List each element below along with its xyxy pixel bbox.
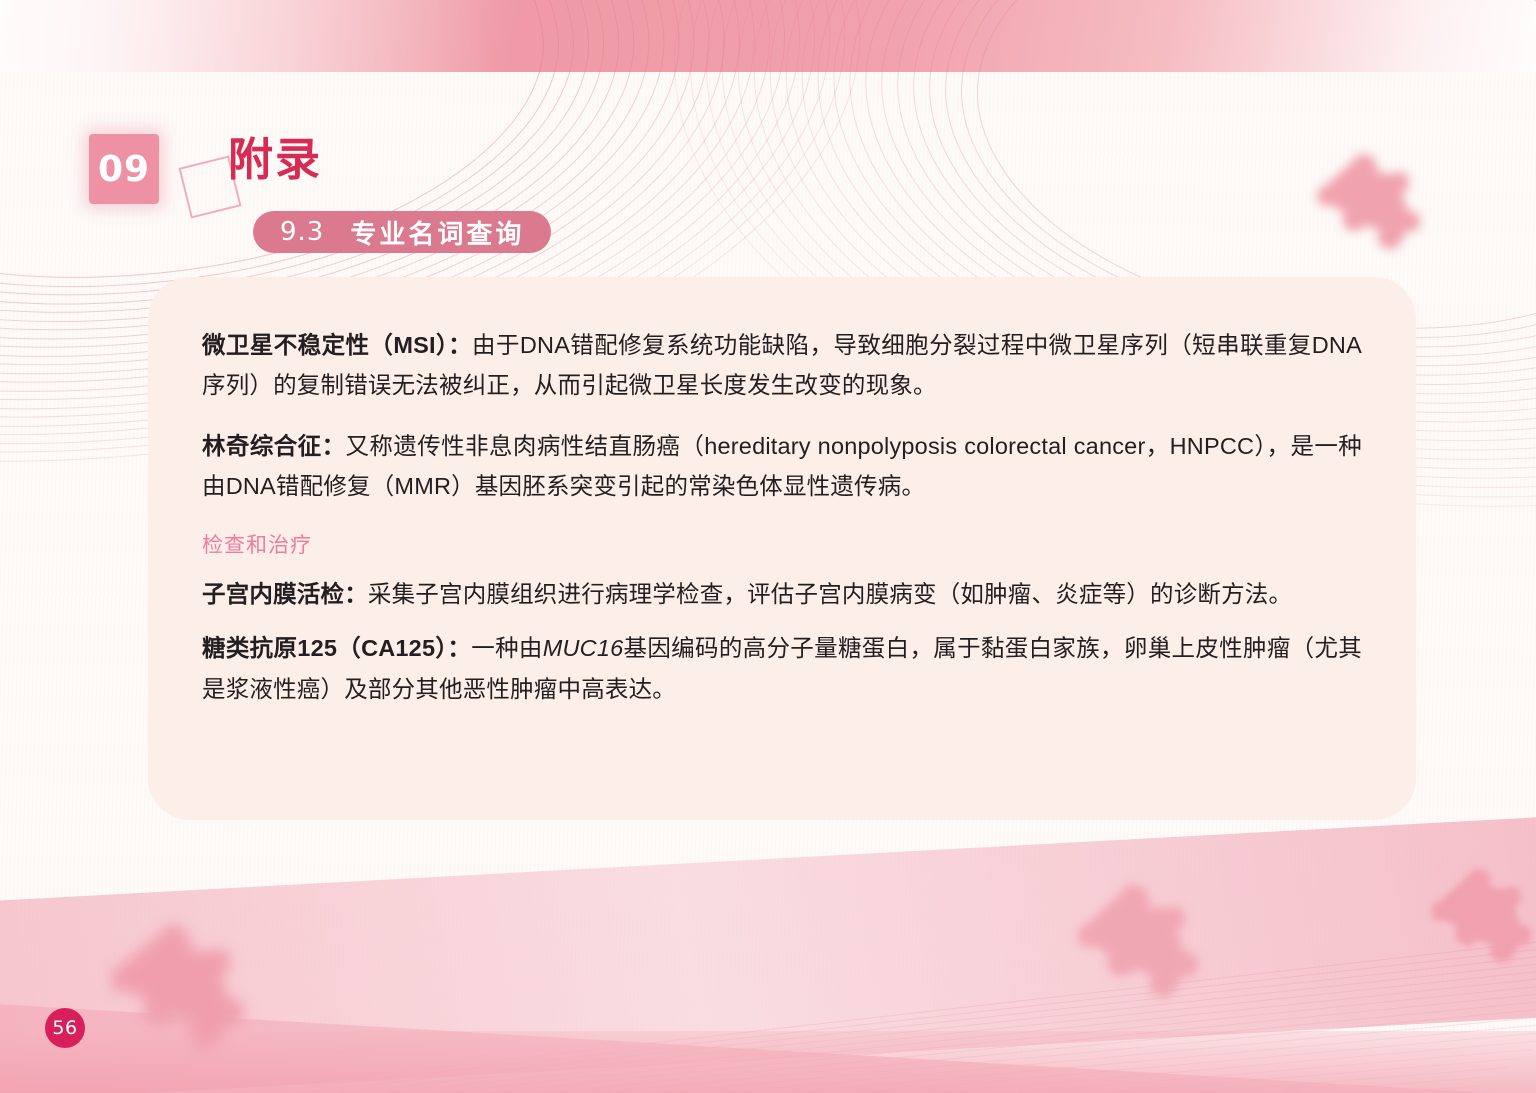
- section-title: 专业名词查询: [350, 214, 524, 251]
- decorative-line: [309, 932, 1536, 1087]
- glossary-entry-ca125: 糖类抗原125（CA125）：一种由MUC16基因编码的高分子量糖蛋白，属于黏蛋…: [202, 628, 1362, 709]
- decorative-line: [307, 968, 1536, 1093]
- top-band-fade: [0, 0, 707, 72]
- term-label-msi: 微卫星不稳定性（MSI）：: [202, 332, 472, 358]
- term-definition-endometrial-biopsy: 采集子宫内膜组织进行病理学检查，评估子宫内膜病变（如肿瘤、炎症等）的诊断方法。: [368, 581, 1292, 607]
- puzzle-piece-icon: [1432, 866, 1536, 974]
- bottom-edge-wave: [0, 1031, 1536, 1093]
- decorative-line: [305, 1022, 1536, 1093]
- decorative-line: [305, 1031, 1536, 1093]
- glossary-card: 微卫星不稳定性（MSI）：由于DNA错配修复系统功能缺陷，导致细胞分裂过程中微卫…: [148, 277, 1416, 820]
- group-label-examination-treatment: 检查和治疗: [202, 531, 1362, 560]
- term-label-endometrial-biopsy: 子宫内膜活检：: [202, 581, 368, 607]
- decorative-line: [309, 923, 1536, 1082]
- bottom-wave-dark: [0, 815, 1536, 1093]
- decorative-line: [305, 1040, 1536, 1093]
- section-heading-pill: 9.3 专业名词查询: [253, 211, 551, 253]
- term-definition-ca125-part1: 一种由: [471, 635, 542, 661]
- puzzle-piece-icon: [1318, 150, 1428, 250]
- term-label-ca125: 糖类抗原125（CA125）：: [202, 635, 471, 661]
- decorative-line: [304, 1076, 1496, 1093]
- puzzle-piece-icon: [112, 920, 252, 1060]
- decorative-line: [306, 995, 1536, 1093]
- chapter-title: 附录: [228, 137, 322, 182]
- chapter-number-badge: 09: [89, 134, 159, 204]
- document-page: 09 附录 9.3 专业名词查询 微卫星不稳定性（MSI）：由于DNA错配修复系…: [0, 0, 1536, 1093]
- section-number: 9.3: [280, 217, 324, 247]
- decorative-line: [304, 1049, 1532, 1093]
- decorative-line: [307, 977, 1536, 1093]
- decorative-line: [305, 1013, 1536, 1093]
- puzzle-piece-icon: [1078, 880, 1208, 1010]
- bottom-swirl-lines: [300, 883, 1536, 1093]
- decorative-line: [304, 1067, 1508, 1093]
- decorative-line: [308, 950, 1536, 1093]
- decorative-line: [306, 986, 1536, 1093]
- glossary-entry-endometrial-biopsy: 子宫内膜活检：采集子宫内膜组织进行病理学检查，评估子宫内膜病变（如肿瘤、炎症等）…: [202, 574, 1362, 614]
- chapter-number-text: 09: [98, 149, 150, 190]
- bottom-wave-light: [0, 1001, 1536, 1093]
- glossary-entry-msi: 微卫星不稳定性（MSI）：由于DNA错配修复系统功能缺陷，导致细胞分裂过程中微卫…: [202, 325, 1362, 406]
- decorative-line: [308, 941, 1536, 1092]
- glossary-entry-lynch: 林奇综合征：又称遗传性非息肉病性结直肠癌（hereditary nonpolyp…: [202, 426, 1362, 507]
- decorative-line: [306, 1004, 1536, 1093]
- decorative-line: [303, 1085, 1484, 1093]
- page-number-badge: 56: [45, 1008, 85, 1048]
- gene-name-muc16: MUC16: [543, 635, 624, 661]
- decorative-line: [307, 959, 1536, 1093]
- top-gradient-band: [0, 0, 1536, 72]
- page-number-text: 56: [52, 1017, 77, 1039]
- term-label-lynch: 林奇综合征：: [202, 433, 346, 459]
- term-definition-lynch: 又称遗传性非息肉病性结直肠癌（hereditary nonpolyposis c…: [202, 433, 1362, 499]
- decorative-line: [304, 1058, 1520, 1093]
